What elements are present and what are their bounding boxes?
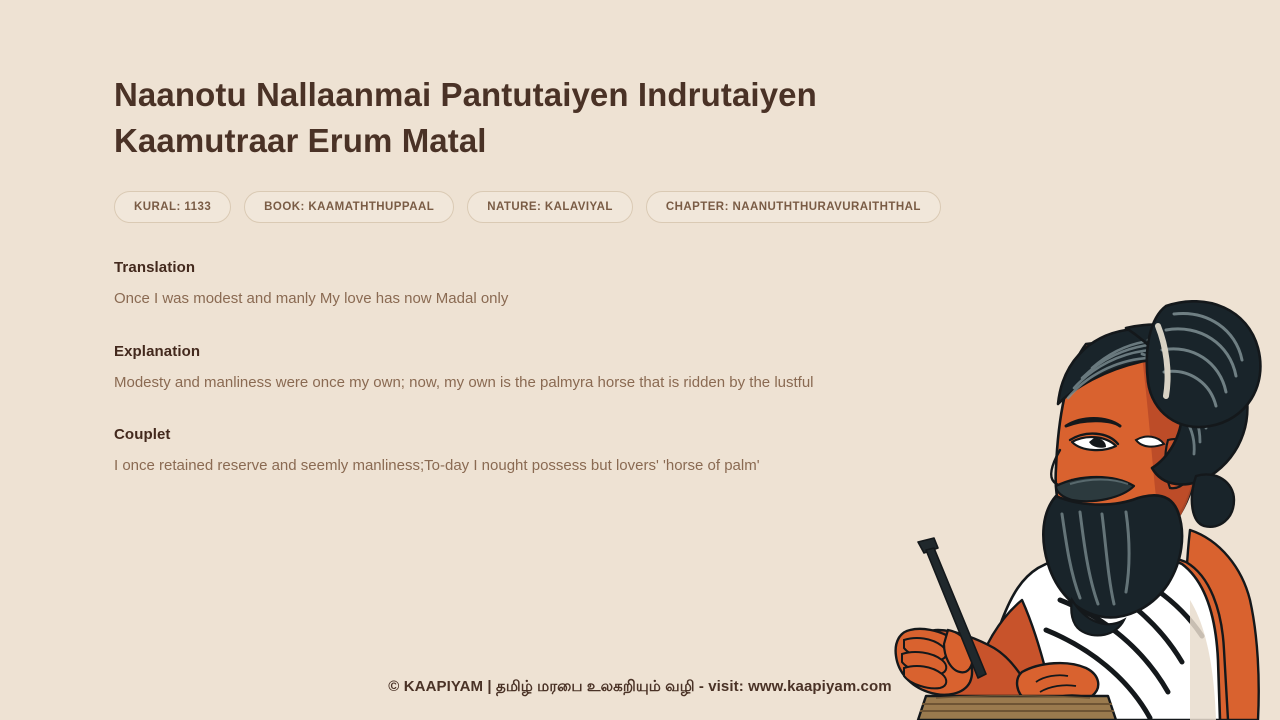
explanation-text: Modesty and manliness were once my own; … — [114, 372, 944, 395]
chip-book[interactable]: BOOK: KAAMATHTHUPPAAL — [244, 191, 454, 223]
translation-heading: Translation — [114, 259, 974, 276]
chip-nature[interactable]: NATURE: KALAVIYAL — [467, 191, 633, 223]
kural-card-page: Naanotu Nallaanmai Pantutaiyen Indrutaiy… — [0, 0, 1280, 720]
couplet-heading: Couplet — [114, 426, 974, 443]
chip-chapter[interactable]: CHAPTER: NAANUTHTHURAVURAITHTHAL — [646, 191, 941, 223]
section-couplet: Couplet I once retained reserve and seem… — [114, 426, 974, 478]
footer: © KAAPIYAM | தமிழ் மரபை உலகறியும் வழி - … — [0, 678, 1280, 697]
translation-text: Once I was modest and manly My love has … — [114, 288, 944, 311]
section-explanation: Explanation Modesty and manliness were o… — [114, 343, 974, 395]
couplet-text: I once retained reserve and seemly manli… — [114, 455, 944, 478]
section-translation: Translation Once I was modest and manly … — [114, 259, 974, 311]
chip-kural-number[interactable]: KURAL: 1133 — [114, 191, 231, 223]
explanation-heading: Explanation — [114, 343, 974, 360]
metadata-chip-row: KURAL: 1133 BOOK: KAAMATHTHUPPAAL NATURE… — [114, 191, 974, 223]
page-title: Naanotu Nallaanmai Pantutaiyen Indrutaiy… — [114, 72, 904, 163]
footer-credit-text[interactable]: © KAAPIYAM | தமிழ் மரபை உலகறியும் வழி - … — [388, 678, 891, 697]
kural-content: Naanotu Nallaanmai Pantutaiyen Indrutaiy… — [114, 72, 974, 478]
